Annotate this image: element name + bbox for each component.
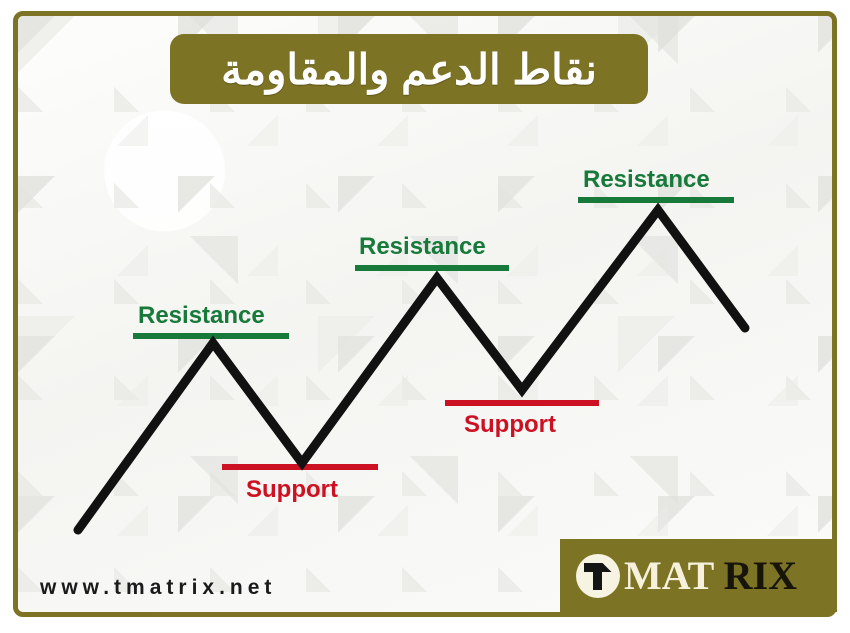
resistance-label: Resistance [138, 304, 265, 328]
resistance-label: Resistance [359, 235, 486, 259]
resistance-label: Resistance [583, 168, 710, 192]
brand-wordmark-light: MAT [624, 553, 714, 598]
support-label: Support [464, 413, 556, 437]
t-monogram-stem [593, 563, 602, 590]
brand-wordmark-dark: RIX [724, 553, 797, 598]
website-url: www.tmatrix.net [40, 576, 276, 600]
t-monogram-icon [576, 554, 620, 598]
support-label: Support [246, 478, 338, 502]
brand-wordmark: MAT RIX [624, 556, 797, 596]
infographic-canvas: نقاط الدعم والمقاومة ResistanceSupportRe… [0, 0, 850, 633]
brand-logo-panel: MAT RIX [560, 539, 837, 612]
